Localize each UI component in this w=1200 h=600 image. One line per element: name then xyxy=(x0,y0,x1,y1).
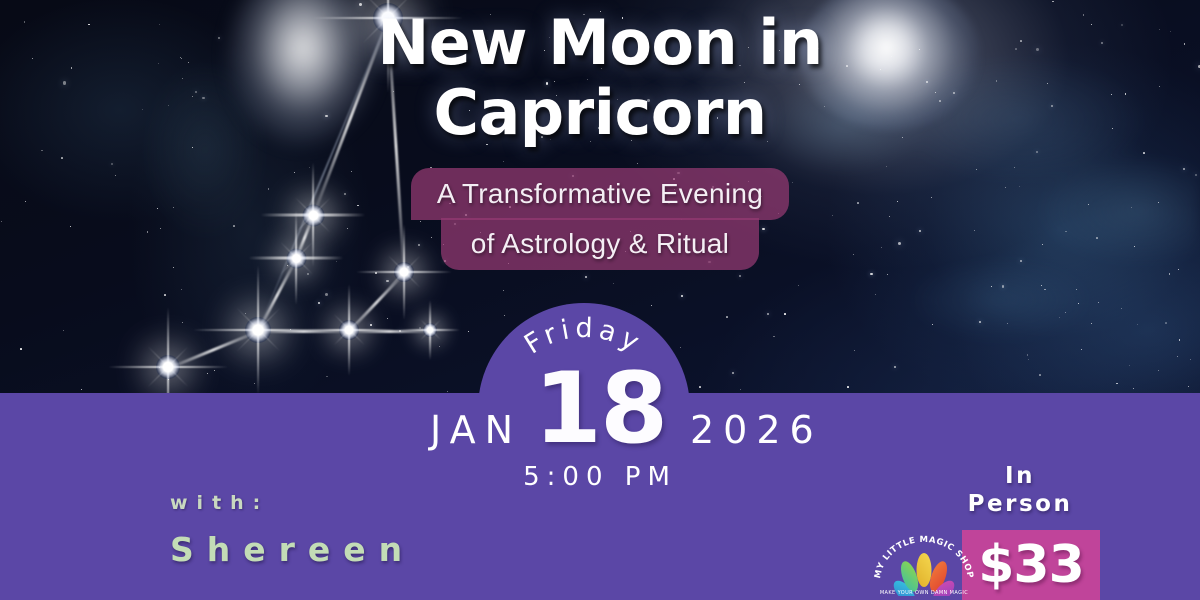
star-core xyxy=(339,320,359,340)
logo-tagline: MAKE YOUR OWN DAMN MAGIC xyxy=(880,590,968,596)
subtitle-line-2: of Astrology & Ritual xyxy=(441,218,759,270)
day-number: 18 xyxy=(0,360,1200,458)
flyer-subtitle: A Transformative Evening of Astrology & … xyxy=(0,168,1200,270)
flyer-title: New Moon in Capricorn xyxy=(0,8,1200,148)
star-core xyxy=(423,323,437,337)
title-line-2: Capricorn xyxy=(0,78,1200,148)
format-line-1: In xyxy=(930,462,1110,490)
subtitle-line-1: A Transformative Evening xyxy=(411,168,789,220)
price-badge: $33 xyxy=(962,530,1100,600)
title-line-1: New Moon in xyxy=(0,8,1200,78)
presenter-name: Shereen xyxy=(170,530,415,569)
format-line-2: Person xyxy=(930,490,1110,518)
presenter-block: with: Shereen xyxy=(170,492,415,569)
star-theta xyxy=(400,300,460,360)
price-amount: $33 xyxy=(978,535,1084,595)
event-flyer: New Moon in Capricorn A Transformative E… xyxy=(0,0,1200,600)
attendance-format-label: In Person xyxy=(930,462,1110,518)
brand-logo: MY LITTLE MAGIC SHOP MAKE YOUR OWN DAMN … xyxy=(872,534,976,596)
with-label: with: xyxy=(170,492,415,514)
star-core xyxy=(245,317,271,343)
